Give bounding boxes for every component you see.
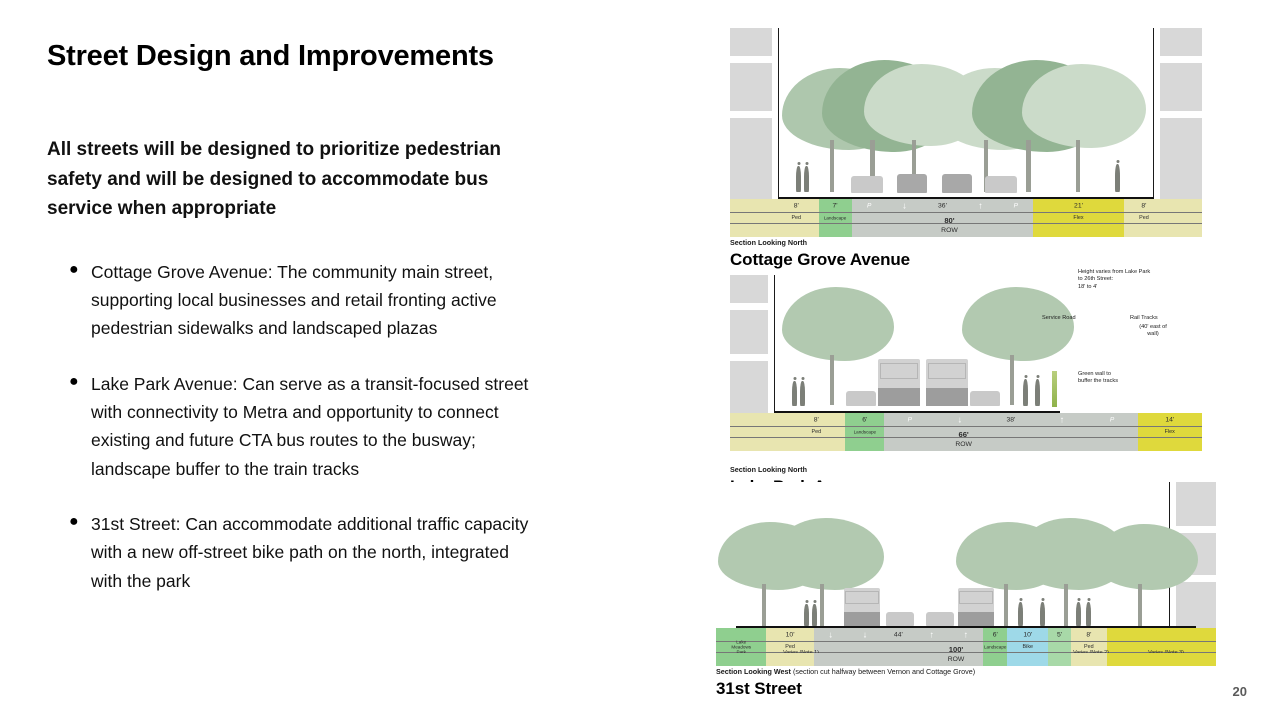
dimension-band: 8'7'P↓36'↑P21'8' PedLandscapeFlexPed 80'… bbox=[730, 199, 1202, 237]
segment-width-label: 7' bbox=[819, 202, 852, 209]
segment-name-label: Ped bbox=[1124, 215, 1165, 221]
segment-name-label: Ped bbox=[774, 215, 819, 221]
building-block bbox=[730, 275, 768, 303]
lane-direction-arrow: ↑ bbox=[949, 630, 983, 639]
dimension-segment-roadway: 44' bbox=[882, 628, 915, 641]
figure-cottage-grove: 8'7'P↓36'↑P21'8' PedLandscapeFlexPed 80'… bbox=[730, 28, 1202, 270]
segment-width-label: 36' bbox=[922, 202, 963, 209]
lane-direction-arrow: ↓ bbox=[935, 415, 984, 424]
dimension-segment-ped-right: 8' bbox=[1071, 628, 1107, 641]
figure-caption-main: Section Looking North bbox=[730, 465, 807, 474]
dimension-segment-outer-left bbox=[730, 413, 787, 426]
right-of-way-total: 80'ROW bbox=[829, 216, 1070, 235]
building-edge-line bbox=[774, 275, 775, 413]
figure-caption-main: Section Looking North bbox=[730, 238, 807, 247]
annotation-service-road: Service Road bbox=[1042, 315, 1076, 322]
dimension-segment-bike: 10' bbox=[1007, 628, 1048, 641]
building-block bbox=[730, 310, 768, 354]
dimension-segment-outer-left bbox=[730, 438, 787, 451]
segment-width-label: 8' bbox=[1124, 202, 1165, 209]
segment-width-label: 6' bbox=[983, 631, 1007, 638]
street-section-illustration bbox=[716, 482, 1216, 628]
left-content-column: Street Design and Improvements All stree… bbox=[47, 40, 607, 622]
segment-width-label: 44' bbox=[882, 631, 915, 638]
dimension-segment-park-right: P bbox=[1087, 413, 1138, 426]
dimension-row-row: 100'ROW bbox=[716, 653, 1216, 666]
travel-car bbox=[926, 612, 954, 626]
segment-width-label: 21' bbox=[1033, 202, 1123, 209]
dimension-segment-outer-right bbox=[1164, 224, 1202, 237]
pedestrian-figure bbox=[800, 381, 805, 406]
annotation-rail-tracks: Rail Tracks bbox=[1130, 315, 1158, 322]
dimension-band: 8'6'P↓38'↑P14' PedLandscapeFlex 66'ROW bbox=[730, 413, 1202, 451]
list-item: ● Cottage Grove Avenue: The community ma… bbox=[47, 258, 567, 343]
dimension-segment-flex: 14' bbox=[1138, 413, 1202, 426]
list-item: ● 31st Street: Can accommodate additiona… bbox=[47, 510, 567, 595]
dimension-segment-outer-left bbox=[730, 427, 787, 437]
list-item: ● Lake Park Avenue: Can serve as a trans… bbox=[47, 370, 567, 483]
dimension-segment-lane-up: ↑ bbox=[963, 199, 998, 212]
dimension-segment-ped-left bbox=[774, 224, 819, 237]
dimension-segment-outer-left bbox=[730, 213, 774, 223]
building-block bbox=[1176, 482, 1216, 526]
bus-vehicle bbox=[844, 588, 880, 626]
pedestrian-figure bbox=[1023, 379, 1028, 406]
dimension-segment-lane-a: ↓ bbox=[814, 628, 848, 641]
slide-root: Street Design and Improvements All stree… bbox=[0, 0, 1280, 718]
parked-car bbox=[851, 176, 883, 193]
annotation-green-wall: Green wall to buffer the tracks bbox=[1078, 371, 1188, 386]
segment-width-label: 10' bbox=[766, 631, 813, 638]
dimension-segment-flex: 21' bbox=[1033, 199, 1123, 212]
bullet-list: ● Cottage Grove Avenue: The community ma… bbox=[47, 258, 567, 595]
figure-31st-street: 10'↓↓44'↑↑6'10'5'8' Lake Meadows ParkPed… bbox=[716, 482, 1216, 699]
dimension-segment-flex-right bbox=[1107, 628, 1216, 641]
building-block bbox=[1160, 63, 1202, 111]
pedestrian-figure bbox=[812, 604, 817, 626]
dimension-segment-flex-right bbox=[1107, 653, 1216, 666]
annotation-rail-tracks-sub: (40' east of wall) bbox=[1130, 324, 1176, 339]
page-number: 20 bbox=[1233, 684, 1247, 699]
pedestrian-figure bbox=[804, 166, 809, 192]
travel-car bbox=[897, 174, 927, 193]
dimension-segment-park bbox=[716, 653, 766, 666]
dimension-segment-lane-b: ↓ bbox=[848, 628, 882, 641]
lane-direction-arrow: ↑ bbox=[963, 201, 998, 210]
figure-title: 31st Street bbox=[716, 679, 1216, 699]
dimension-segment-ped-left: 8' bbox=[787, 413, 845, 426]
segment-width-label: 8' bbox=[1071, 631, 1107, 638]
segment-width-label: 14' bbox=[1138, 416, 1202, 423]
figure-caption: Section Looking North bbox=[730, 238, 1202, 247]
right-of-way-total: 66'ROW bbox=[829, 430, 1098, 449]
dimension-segment-lane-down: ↓ bbox=[887, 199, 922, 212]
section-drawings-column: 8'7'P↓36'↑P21'8' PedLandscapeFlexPed 80'… bbox=[706, 0, 1280, 718]
segment-width-label: 6' bbox=[845, 416, 884, 423]
segment-width-label: 5' bbox=[1048, 631, 1071, 638]
parked-car bbox=[846, 391, 876, 406]
dimension-segment-landscape: 7' bbox=[819, 199, 852, 212]
dimension-segment-landscape: 6' bbox=[845, 413, 884, 426]
parking-marker: P bbox=[884, 416, 935, 423]
street-section-illustration: Green wall to buffer the tracks bbox=[730, 275, 1202, 413]
street-section-illustration bbox=[730, 28, 1202, 199]
pedestrian-figure bbox=[804, 604, 809, 626]
building-block bbox=[730, 63, 772, 111]
pedestrian-figure bbox=[1115, 164, 1120, 192]
building-block bbox=[1160, 118, 1202, 199]
dimension-segment-park-left: P bbox=[884, 413, 935, 426]
dimension-row-widths: 10'↓↓44'↑↑6'10'5'8' bbox=[716, 628, 1216, 642]
figure-caption: Section Looking West (section cut halfwa… bbox=[716, 667, 1216, 676]
building-block bbox=[730, 28, 772, 56]
dimension-segment-ped-left: 8' bbox=[774, 199, 819, 212]
building-block bbox=[1160, 28, 1202, 56]
travel-car bbox=[886, 612, 914, 626]
parking-marker: P bbox=[852, 202, 887, 209]
green-wall bbox=[1052, 371, 1057, 407]
figure-lake-park: Green wall to buffer the tracks 8'6'P↓38… bbox=[730, 275, 1202, 497]
dimension-band: 10'↓↓44'↑↑6'10'5'8' Lake Meadows ParkPed… bbox=[716, 628, 1216, 666]
pedestrian-figure bbox=[1040, 602, 1045, 626]
page-title: Street Design and Improvements bbox=[47, 40, 607, 73]
building-block bbox=[1176, 582, 1216, 628]
pedestrian-figure bbox=[1076, 602, 1081, 626]
dimension-segment-park-left: P bbox=[852, 199, 887, 212]
dimension-segment-ped-right: Ped bbox=[1124, 213, 1165, 223]
dimension-segment-roadway: 38' bbox=[984, 413, 1037, 426]
dimension-row-widths: 8'6'P↓38'↑P14' bbox=[730, 413, 1202, 427]
bullet-icon: ● bbox=[69, 510, 91, 595]
figure-caption-main: Section Looking West bbox=[716, 667, 791, 676]
figure-caption-sub: (section cut halfway between Vernon and … bbox=[793, 667, 975, 676]
parking-marker: P bbox=[1087, 416, 1138, 423]
building-block bbox=[730, 361, 768, 413]
bullet-icon: ● bbox=[69, 370, 91, 483]
lane-direction-arrow: ↓ bbox=[848, 630, 882, 639]
segment-name-label: Flex bbox=[1138, 429, 1202, 435]
parked-car bbox=[970, 391, 1000, 406]
annotation-height-varies: Height varies from Lake Park to 26th Str… bbox=[1078, 269, 1198, 291]
lede-paragraph: All streets will be designed to prioriti… bbox=[47, 135, 517, 223]
dimension-segment-landscape: 6' bbox=[983, 628, 1007, 641]
dimension-segment-flex: Flex bbox=[1138, 427, 1202, 437]
dimension-segment-buffer: 5' bbox=[1048, 628, 1071, 641]
dimension-segment-lane-up: ↑ bbox=[1037, 413, 1086, 426]
dimension-segment-outer-right bbox=[1164, 213, 1202, 223]
building-edge-line bbox=[1153, 28, 1154, 199]
dimension-segment-flex bbox=[1138, 438, 1202, 451]
segment-width-label: 8' bbox=[774, 202, 819, 209]
pedestrian-figure bbox=[1086, 602, 1091, 626]
dimension-row-widths: 8'7'P↓36'↑P21'8' bbox=[730, 199, 1202, 213]
dimension-segment-lane-down: ↓ bbox=[935, 413, 984, 426]
pedestrian-figure bbox=[1018, 602, 1023, 626]
dimension-segment-ped-left: Ped bbox=[774, 213, 819, 223]
dimension-segment-park-right: P bbox=[998, 199, 1033, 212]
dimension-segment-lane-c: ↑ bbox=[915, 628, 949, 641]
building-edge-line bbox=[778, 28, 779, 199]
bullet-icon: ● bbox=[69, 258, 91, 343]
pedestrian-figure bbox=[792, 381, 797, 406]
dimension-segment-ped-right: 8' bbox=[1124, 199, 1165, 212]
dimension-segment-lane-d: ↑ bbox=[949, 628, 983, 641]
bus-vehicle bbox=[958, 588, 994, 626]
bus-vehicle bbox=[878, 359, 920, 406]
list-item-text: Lake Park Avenue: Can serve as a transit… bbox=[91, 370, 536, 483]
segment-width-label: 38' bbox=[984, 416, 1037, 423]
dimension-segment-outer-right bbox=[1164, 199, 1202, 212]
lane-direction-arrow: ↓ bbox=[887, 201, 922, 210]
list-item-text: Cottage Grove Avenue: The community main… bbox=[91, 258, 536, 343]
building-block bbox=[730, 118, 772, 199]
pedestrian-figure bbox=[796, 166, 801, 192]
segment-width-label: 8' bbox=[787, 416, 845, 423]
dimension-segment-ped-left bbox=[766, 653, 813, 666]
dimension-segment-roadway: 36' bbox=[922, 199, 963, 212]
parking-marker: P bbox=[998, 202, 1033, 209]
pedestrian-figure bbox=[1035, 379, 1040, 406]
dimension-segment-ped-left: 10' bbox=[766, 628, 813, 641]
figure-title: Cottage Grove Avenue bbox=[730, 250, 1202, 270]
list-item-text: 31st Street: Can accommodate additional … bbox=[91, 510, 536, 595]
bus-vehicle bbox=[926, 359, 968, 406]
lane-direction-arrow: ↑ bbox=[1037, 415, 1086, 424]
dimension-segment-outer-left bbox=[730, 199, 774, 212]
dimension-segment-outer-left bbox=[730, 224, 774, 237]
lane-direction-arrow: ↓ bbox=[814, 630, 848, 639]
dimension-segment-ped-right bbox=[1124, 224, 1165, 237]
figure-caption: Section Looking North bbox=[730, 465, 1202, 474]
right-of-way-total: 100'ROW bbox=[826, 645, 1086, 664]
dimension-row-row: 66'ROW bbox=[730, 438, 1202, 451]
lane-direction-arrow: ↑ bbox=[915, 630, 949, 639]
dimension-row-row: 80'ROW bbox=[730, 224, 1202, 237]
segment-width-label: 10' bbox=[1007, 631, 1048, 638]
parked-car bbox=[985, 176, 1017, 193]
travel-car bbox=[942, 174, 972, 193]
